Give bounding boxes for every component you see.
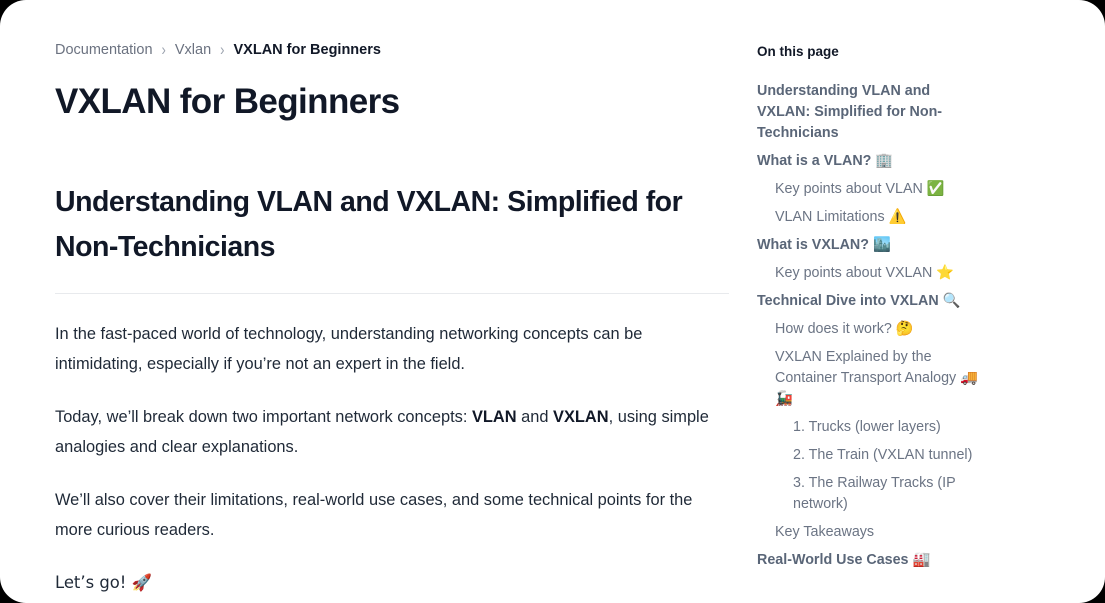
- toc-link-10[interactable]: 1. Trucks (lower layers): [757, 413, 985, 441]
- text-run: and: [517, 408, 553, 426]
- toc-item: Technical Dive into VXLAN 🔍: [757, 287, 1007, 315]
- toc-item: VXLAN Explained by the Container Transpo…: [757, 343, 1007, 413]
- text-run: In the fast-paced world of technology, u…: [55, 325, 642, 373]
- breadcrumb: Documentation›Vxlan›VXLAN for Beginners: [55, 40, 745, 60]
- toc-item: What is VXLAN? 🏙️: [757, 231, 1007, 259]
- toc-link-5[interactable]: What is VXLAN? 🏙️: [757, 231, 985, 259]
- article-body: In the fast-paced world of technology, u…: [55, 319, 745, 598]
- paragraph-4: Let’s go! 🚀: [55, 568, 727, 598]
- toc-link-4[interactable]: VLAN Limitations ⚠️: [757, 203, 985, 231]
- article-content: Documentation›Vxlan›VXLAN for Beginners …: [0, 0, 745, 598]
- breadcrumb-item-1[interactable]: Documentation: [55, 40, 153, 60]
- toc-list: Understanding VLAN and VXLAN: Simplified…: [757, 77, 1007, 574]
- toc-link-14[interactable]: Real-World Use Cases 🏭: [757, 546, 985, 574]
- toc-heading: On this page: [757, 43, 1007, 61]
- toc-item: What is a VLAN? 🏢: [757, 147, 1007, 175]
- text-run: Let’s go! 🚀: [55, 573, 152, 592]
- toc-item: Understanding VLAN and VXLAN: Simplified…: [757, 77, 1007, 147]
- documentation-page: Documentation›Vxlan›VXLAN for Beginners …: [0, 0, 1105, 603]
- toc-item: Key points about VLAN ✅: [757, 175, 1007, 203]
- toc-link-7[interactable]: Technical Dive into VXLAN 🔍: [757, 287, 985, 315]
- toc-item: Key points about VXLAN ⭐: [757, 259, 1007, 287]
- paragraph-1: In the fast-paced world of technology, u…: [55, 319, 727, 379]
- paragraph-3: We’ll also cover their limitations, real…: [55, 485, 727, 545]
- toc-link-8[interactable]: How does it work? 🤔: [757, 315, 985, 343]
- breadcrumb-separator-icon: ›: [220, 38, 224, 63]
- toc-item: 2. The Train (VXLAN tunnel): [757, 441, 1007, 469]
- toc-link-13[interactable]: Key Takeaways: [757, 518, 985, 546]
- toc-link-9[interactable]: VXLAN Explained by the Container Transpo…: [757, 343, 985, 413]
- toc-link-11[interactable]: 2. The Train (VXLAN tunnel): [757, 441, 985, 469]
- toc-item: VLAN Limitations ⚠️: [757, 203, 1007, 231]
- toc-item: 1. Trucks (lower layers): [757, 413, 1007, 441]
- breadcrumb-item-2[interactable]: Vxlan: [175, 40, 211, 60]
- page-layout: Documentation›Vxlan›VXLAN for Beginners …: [0, 0, 1105, 603]
- toc-item: Key Takeaways: [757, 518, 1007, 546]
- toc-item: 3. The Railway Tracks (IP network): [757, 469, 1007, 518]
- toc-link-12[interactable]: 3. The Railway Tracks (IP network): [757, 469, 985, 518]
- toc-link-1[interactable]: Understanding VLAN and VXLAN: Simplified…: [757, 77, 985, 147]
- text-run: We’ll also cover their limitations, real…: [55, 491, 692, 539]
- emphasis-text: VXLAN: [553, 408, 609, 426]
- table-of-contents: On this page Understanding VLAN and VXLA…: [757, 0, 1007, 574]
- toc-link-6[interactable]: Key points about VXLAN ⭐: [757, 259, 985, 287]
- text-run: Today, we’ll break down two important ne…: [55, 408, 472, 426]
- emphasis-text: VLAN: [472, 408, 517, 426]
- paragraph-2: Today, we’ll break down two important ne…: [55, 402, 727, 462]
- page-title: VXLAN for Beginners: [55, 81, 745, 123]
- section-heading: Understanding VLAN and VXLAN: Simplified…: [55, 180, 729, 294]
- breadcrumb-item-3: VXLAN for Beginners: [234, 40, 381, 60]
- toc-item: Real-World Use Cases 🏭: [757, 546, 1007, 574]
- toc-item: How does it work? 🤔: [757, 315, 1007, 343]
- toc-link-3[interactable]: Key points about VLAN ✅: [757, 175, 985, 203]
- breadcrumb-separator-icon: ›: [162, 38, 166, 63]
- toc-link-2[interactable]: What is a VLAN? 🏢: [757, 147, 985, 175]
